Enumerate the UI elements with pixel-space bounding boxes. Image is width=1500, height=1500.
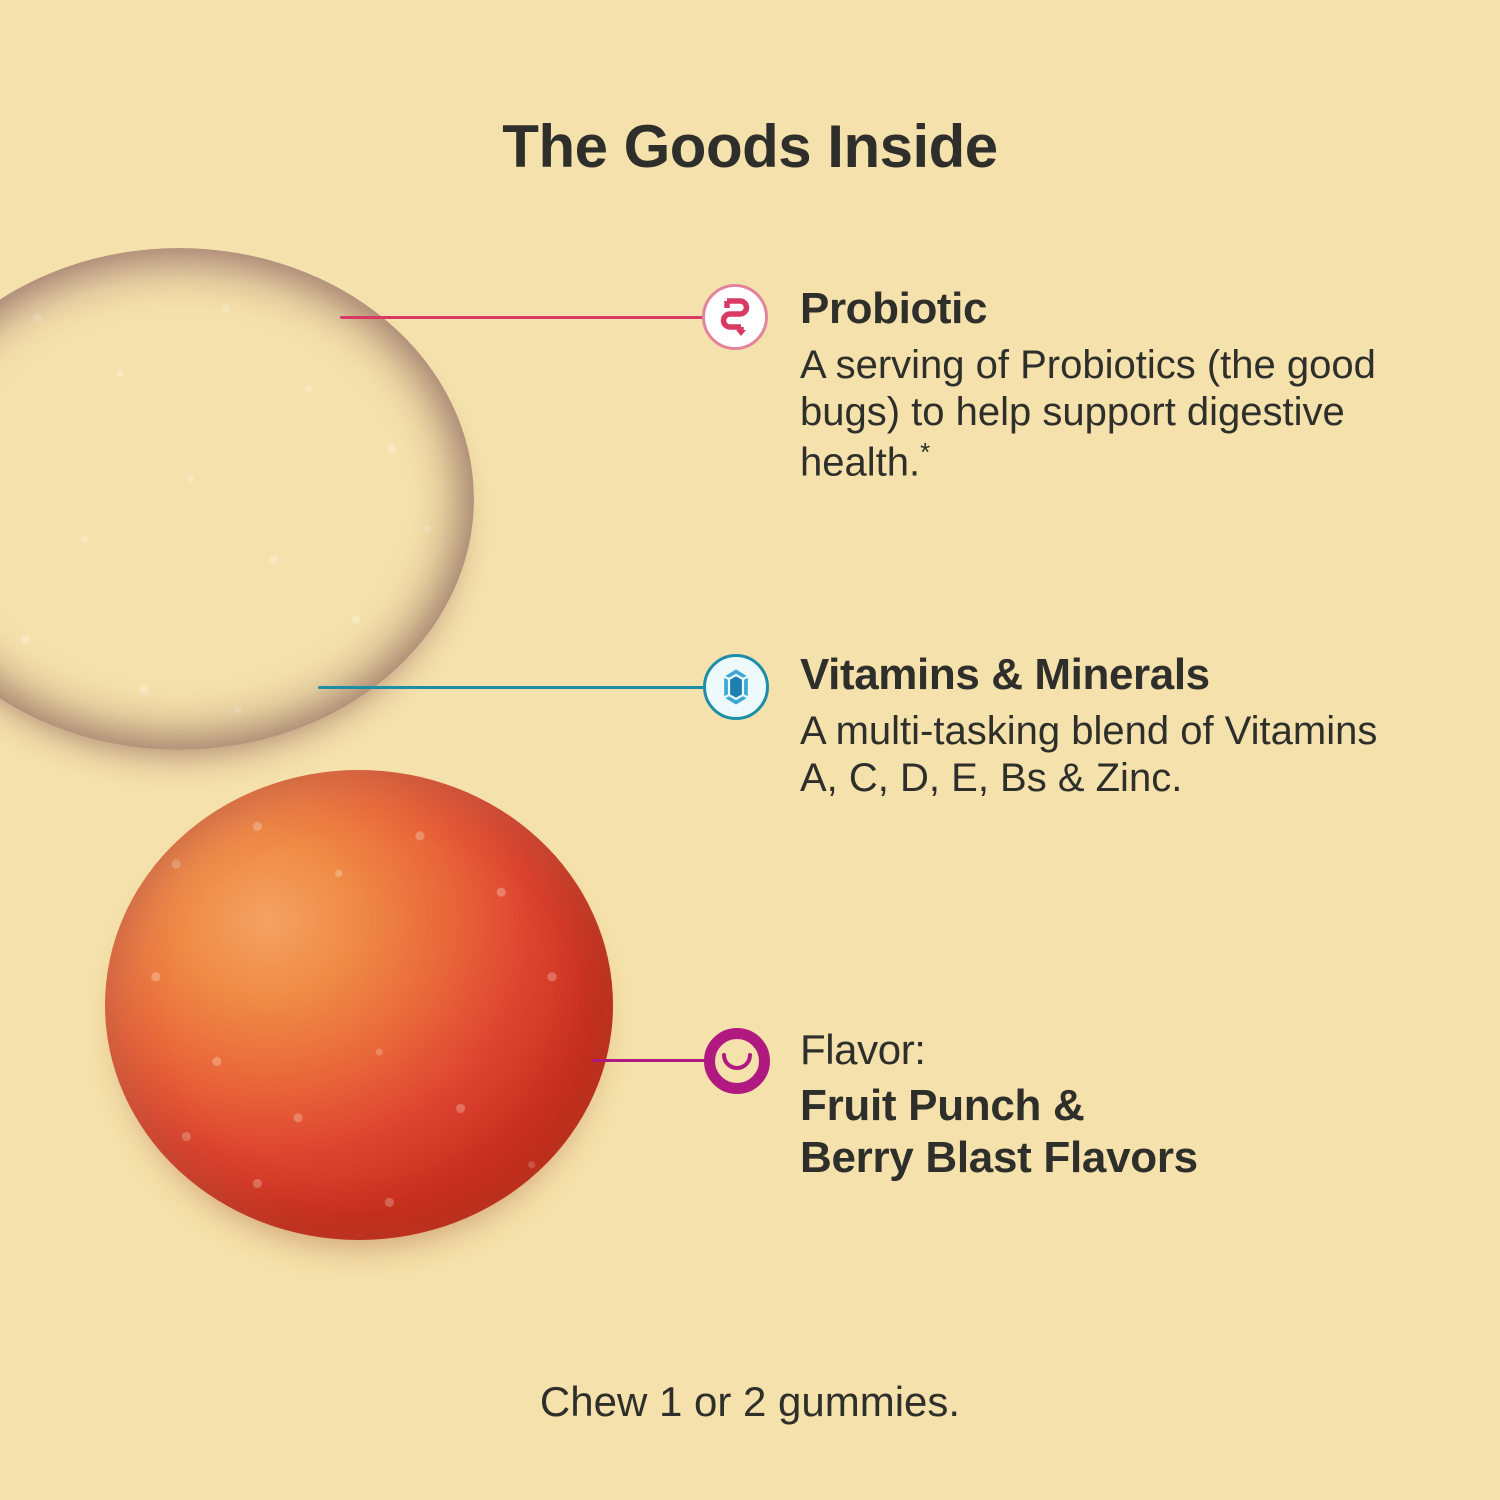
footnote-marker-probiotic: *: [920, 437, 930, 467]
callout-heading-probiotic: Probiotic: [800, 286, 1400, 332]
berry-gummy-rim-shading: [0, 248, 474, 750]
fruit-punch-gummy-image: [105, 770, 613, 1240]
smile-taste-icon: [704, 1028, 770, 1094]
infographic-canvas: The Goods Inside Probiotic A serving of …: [0, 0, 1500, 1500]
leader-line-probiotic: [340, 316, 708, 319]
flavor-name-line-1: Fruit Punch &: [800, 1080, 1400, 1131]
callout-body-probiotic: A serving of Probiotics (the good bugs) …: [800, 342, 1400, 486]
leader-line-flavor: [592, 1059, 710, 1062]
callout-heading-flavor: Flavor:: [800, 1028, 1400, 1072]
page-title: The Goods Inside: [0, 112, 1500, 181]
callout-text-probiotic: Probiotic A serving of Probiotics (the g…: [800, 286, 1400, 486]
gem-icon: [703, 654, 769, 720]
dosage-note: Chew 1 or 2 gummies.: [0, 1378, 1500, 1426]
berry-gummy-image: [0, 248, 474, 750]
callout-text-vitamins-minerals: Vitamins & Minerals A multi-tasking blen…: [800, 652, 1400, 803]
flavor-name-line-2: Berry Blast Flavors: [800, 1132, 1400, 1183]
callout-body-vitamins-minerals: A multi-tasking blend of Vitamins A, C, …: [800, 708, 1400, 802]
callout-text-flavor: Flavor: Fruit Punch &Berry Blast Flavors: [800, 1028, 1400, 1183]
callout-heading-vitamins-minerals: Vitamins & Minerals: [800, 652, 1400, 698]
flavor-names: Fruit Punch &Berry Blast Flavors: [800, 1080, 1400, 1183]
callout-body-text-probiotic: A serving of Probiotics (the good bugs) …: [800, 343, 1376, 484]
fruit-punch-gummy-rim-shading: [105, 770, 613, 1240]
leader-line-vitamins-minerals: [318, 686, 708, 689]
intestine-icon: [702, 284, 768, 350]
